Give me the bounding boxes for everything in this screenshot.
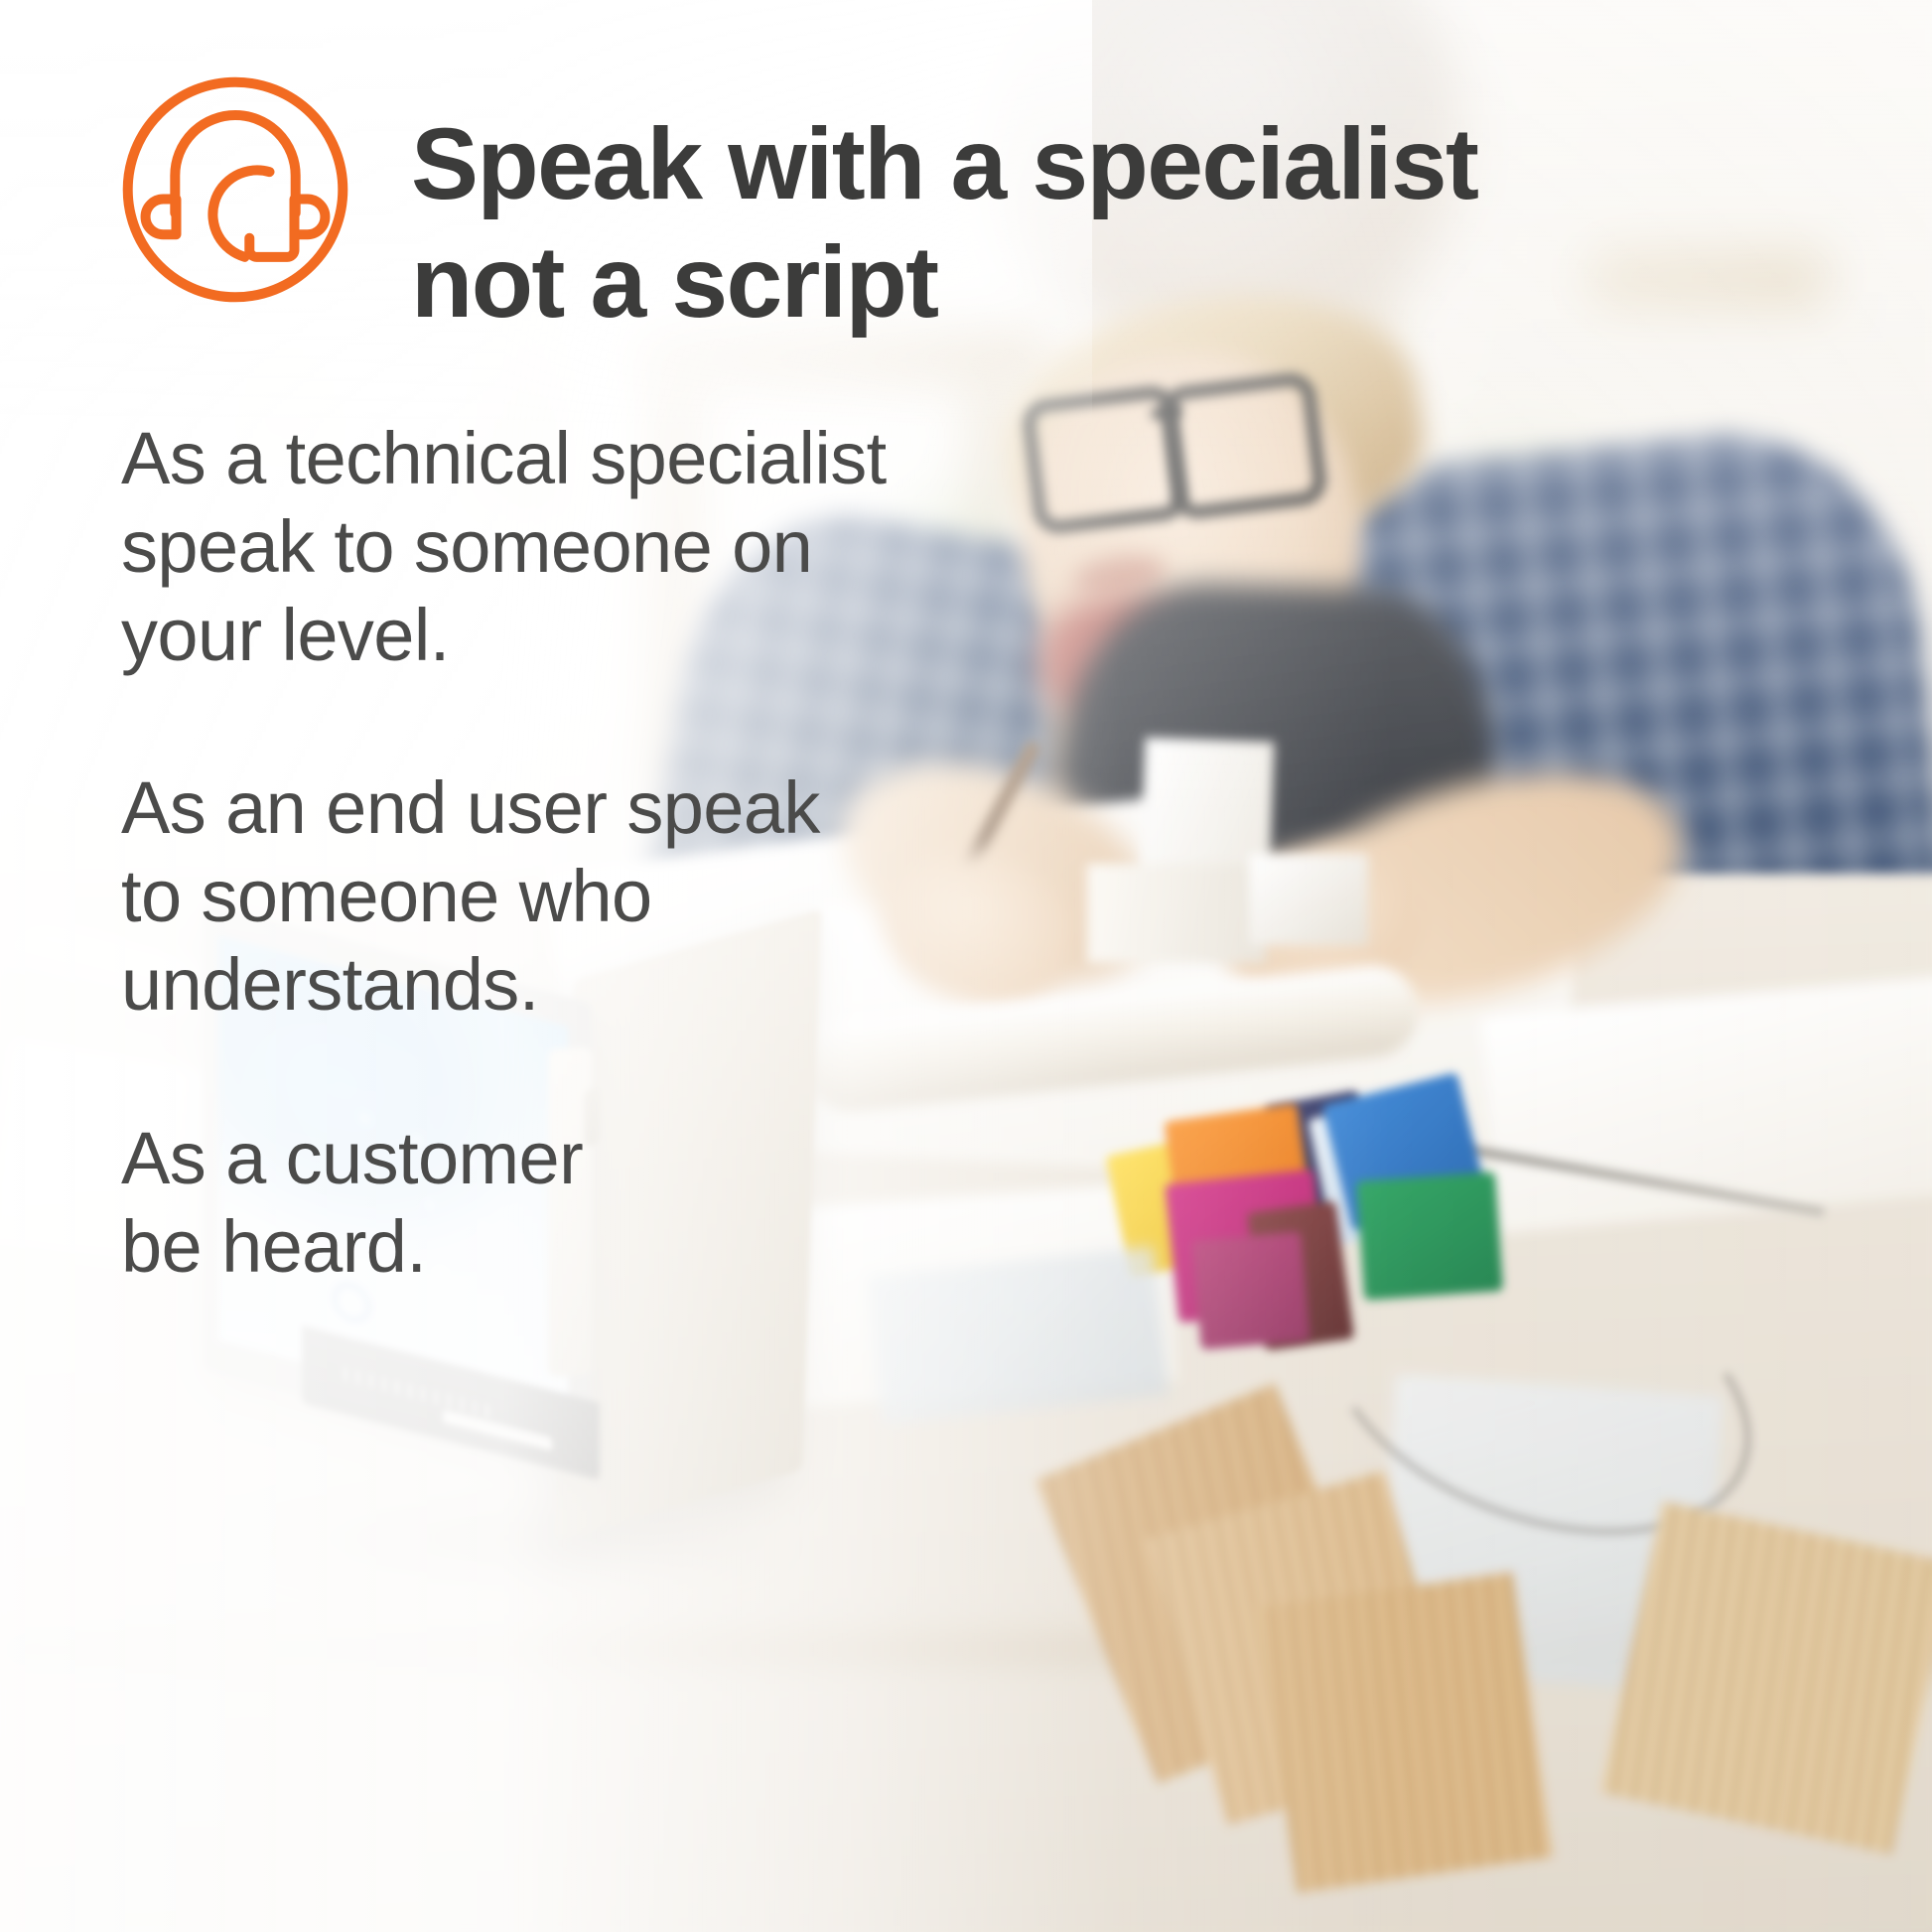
- poster-header: Speak with a specialist not a script: [117, 71, 1477, 343]
- paragraph-technical-specialist: As a technical specialist speak to someo…: [121, 415, 905, 679]
- poster-content: Speak with a specialist not a script As …: [0, 0, 1932, 1932]
- paragraph-customer: As a customer be heard.: [121, 1115, 905, 1292]
- body-copy: As a technical specialist speak to someo…: [121, 415, 905, 1291]
- promotional-poster: Speak with a specialist not a script As …: [0, 0, 1932, 1932]
- page-title: Speak with a specialist not a script: [411, 71, 1477, 343]
- paragraph-end-user: As an end user speak to someone who unde…: [121, 764, 905, 1029]
- headset-support-icon: [117, 71, 353, 308]
